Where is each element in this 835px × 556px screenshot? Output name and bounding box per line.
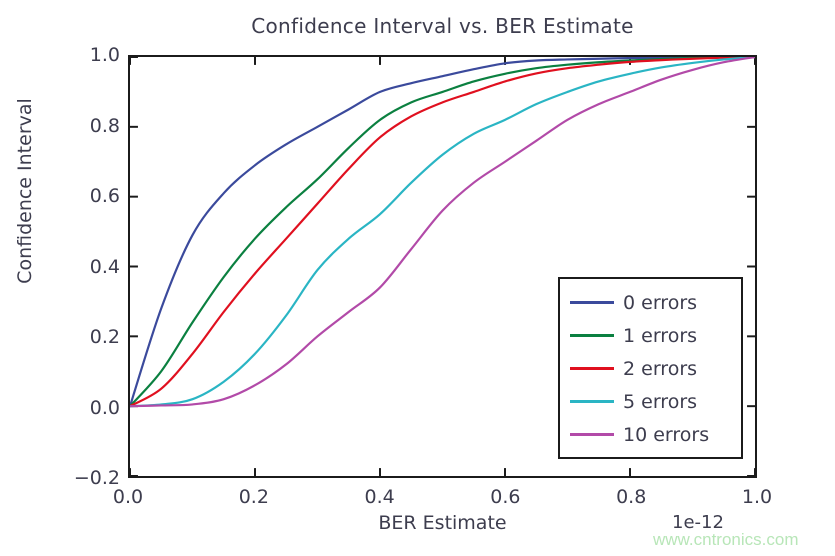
- x-tick-label: 0.8: [591, 486, 671, 508]
- x-tick-label: 1.0: [717, 486, 797, 508]
- legend-item[interactable]: 2 errors: [560, 352, 741, 385]
- legend-color-swatch: [570, 334, 614, 337]
- x-tick-label: 0.0: [88, 486, 168, 508]
- x-tick-label: 0.6: [465, 486, 545, 508]
- legend-item-label: 5 errors: [623, 391, 697, 413]
- watermark-text: www.cntronics.com: [653, 530, 798, 550]
- chart-title: Confidence Interval vs. BER Estimate: [128, 14, 757, 38]
- y-tick-label: 1.0: [60, 44, 120, 66]
- y-tick-label: 0.6: [60, 185, 120, 207]
- legend-item[interactable]: 0 errors: [560, 286, 741, 319]
- y-axis-ticks: −0.20.00.20.40.60.81.0: [50, 55, 120, 478]
- x-axis-ticks: 0.00.20.40.60.81.0: [128, 486, 757, 512]
- x-tick-label: 0.4: [340, 486, 420, 508]
- x-tick-label: 0.2: [214, 486, 294, 508]
- legend-color-swatch: [570, 301, 614, 304]
- legend-item-label: 10 errors: [623, 424, 709, 446]
- legend-color-swatch: [570, 367, 614, 370]
- y-tick-label: 0.2: [60, 326, 120, 348]
- y-tick-label: 0.0: [60, 397, 120, 419]
- chart-legend: 0 errors1 errors2 errors5 errors10 error…: [558, 277, 743, 459]
- y-tick-label: 0.8: [60, 115, 120, 137]
- legend-color-swatch: [570, 433, 614, 436]
- y-axis-label: Confidence Interval: [14, 61, 36, 321]
- chart-figure: Confidence Interval vs. BER Estimate −0.…: [0, 0, 835, 556]
- legend-item-label: 0 errors: [623, 292, 697, 314]
- legend-item-label: 2 errors: [623, 358, 697, 380]
- legend-item[interactable]: 5 errors: [560, 385, 741, 418]
- legend-item[interactable]: 1 errors: [560, 319, 741, 352]
- y-tick-label: 0.4: [60, 256, 120, 278]
- legend-color-swatch: [570, 400, 614, 403]
- legend-item[interactable]: 10 errors: [560, 418, 741, 451]
- legend-item-label: 1 errors: [623, 325, 697, 347]
